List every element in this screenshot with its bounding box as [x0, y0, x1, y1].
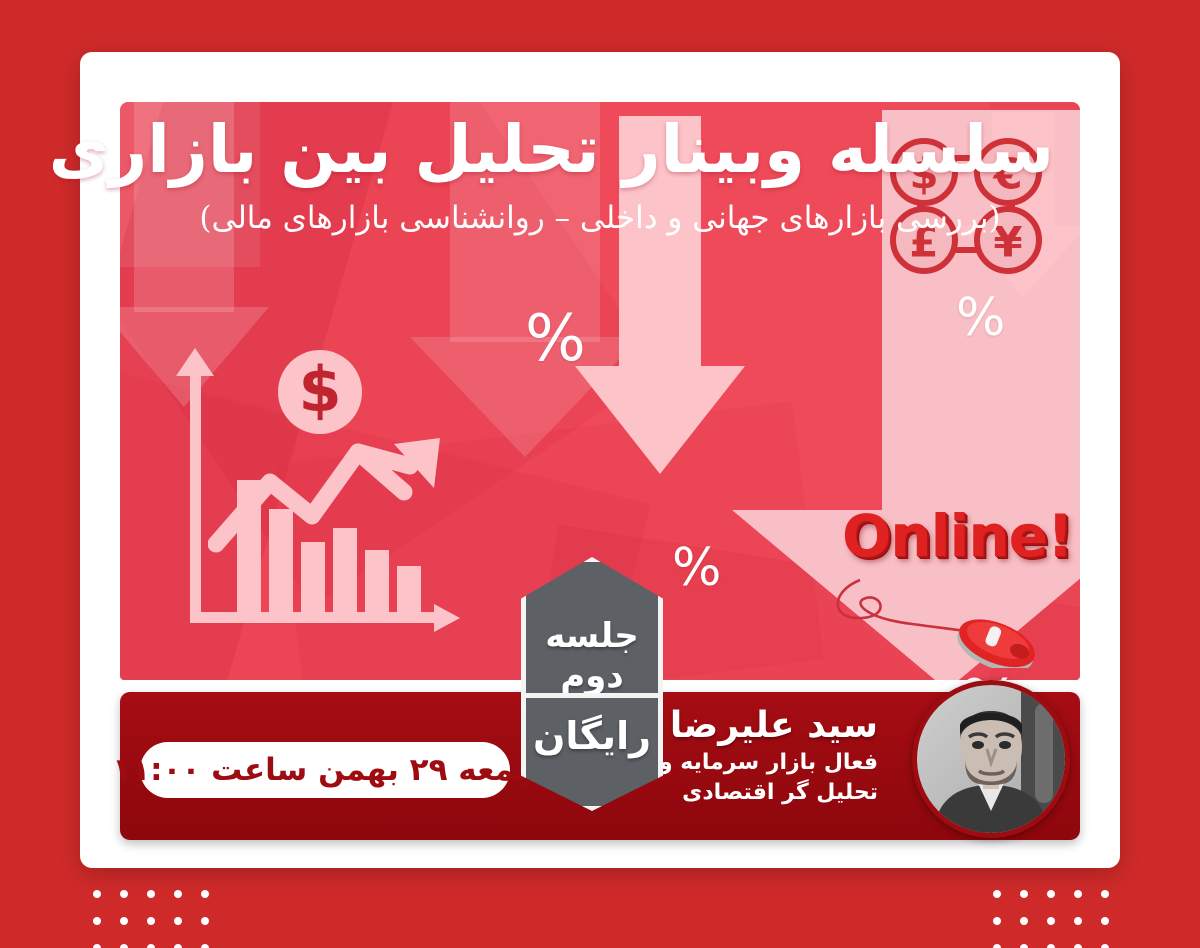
dot [1047, 917, 1055, 925]
dot [147, 944, 155, 948]
arrow-right-icon [434, 604, 460, 632]
dot [147, 917, 155, 925]
dot [1047, 890, 1055, 898]
dot [1074, 917, 1082, 925]
dot [993, 944, 1001, 948]
dot [120, 917, 128, 925]
free-badge-label: رایگان [526, 714, 658, 758]
speaker-role-line-2: تحلیل گر اقتصادی [444, 778, 878, 808]
arrow-up-icon [176, 348, 214, 376]
dot [147, 890, 155, 898]
page-subtitle: (بررسی بازارهای جهانی و داخلی – روانشناس… [146, 195, 1054, 242]
dot [1047, 944, 1055, 948]
percent-glyph: % [956, 292, 1005, 344]
growth-chart-graphic: $ [168, 342, 478, 642]
dot [93, 917, 101, 925]
chart-y-axis [190, 372, 201, 622]
dot [201, 917, 209, 925]
dot [174, 917, 182, 925]
dot-grid-left [93, 890, 209, 948]
dot [1101, 917, 1109, 925]
percent-glyph: % [960, 672, 1021, 680]
dot [174, 944, 182, 948]
speaker-info: سید علیرضا شبیری فعال بازار سرمایه و فار… [444, 704, 884, 809]
poster-canvas: $ $ € £ ¥ [0, 0, 1200, 948]
chart-bar [365, 550, 389, 612]
percent-glyph: % [672, 542, 721, 594]
dot [1101, 944, 1109, 948]
online-graphic: Online! [820, 502, 1080, 662]
session-badge-label: جلسه دوم [526, 616, 658, 696]
dot [993, 917, 1001, 925]
chart-bar [397, 566, 421, 612]
dollar-coin-icon: $ [278, 350, 362, 434]
dot [1074, 890, 1082, 898]
page-title: سلسله وبینار تحلیل بین بازاری [146, 110, 1054, 191]
computer-mouse-icon [820, 558, 1080, 668]
dot [93, 890, 101, 898]
dollar-glyph: $ [298, 359, 341, 421]
dot-grid-right [993, 890, 1109, 948]
dot [120, 890, 128, 898]
dot [174, 890, 182, 898]
dot [93, 944, 101, 948]
dot [201, 944, 209, 948]
dot [1101, 890, 1109, 898]
avatar [912, 680, 1070, 838]
title-block: سلسله وبینار تحلیل بین بازاری (بررسی باز… [120, 110, 1080, 241]
dot [120, 944, 128, 948]
dot [1020, 890, 1028, 898]
dot [993, 890, 1001, 898]
chart-x-axis [190, 612, 440, 623]
dot [1020, 944, 1028, 948]
dot [1020, 917, 1028, 925]
dot [1074, 944, 1082, 948]
dot [201, 890, 209, 898]
percent-glyph: % [525, 307, 586, 371]
